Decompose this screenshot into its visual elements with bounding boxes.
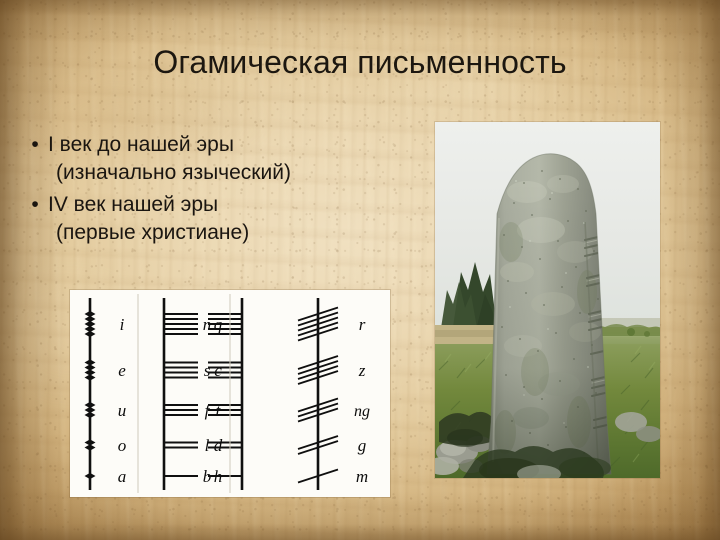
ogham-glyph-g: g [298,436,366,455]
ogham-notch [85,412,96,418]
ogham-letter-label: i [120,315,125,334]
ogham-notch [85,374,96,380]
list-item: • IV век нашей эры (первые христиане) [22,191,427,247]
bullet-list: • I век до нашей эры (изначально языческ… [22,131,427,251]
ogham-letter-label: a [118,467,127,486]
ogham-letter-label: z [358,361,366,380]
ogham-letter-label: q [214,315,223,334]
ogham-letter-label: h [214,467,223,486]
ogham-letter-label: d [214,436,223,455]
ogham-glyph-q: q [208,314,242,334]
list-item: • I век до нашей эры (изначально языческ… [22,131,427,187]
ogham-glyph-s: s [164,361,211,380]
ogham-stone-photo [435,122,660,478]
ogham-letter-label: o [118,436,127,455]
ogham-glyph-m: m [298,467,368,486]
ogham-stone-photo-svg [435,122,660,478]
ogham-column-aicme-huatha: qctdh [208,298,242,490]
slide-canvas: Огамическая письменность • I век до наше… [0,0,720,540]
slide-title: Огамическая письменность [0,44,720,81]
ogham-letter-label: m [356,467,368,486]
ogham-notch [85,444,96,450]
ogham-column-aicme-muine: rznggm [298,298,370,490]
ogham-notch [85,331,96,337]
bullet-text-primary: IV век нашей эры [48,191,427,219]
ogham-glyph-i: i [85,311,125,337]
ogham-glyph-z: z [298,356,366,384]
bullet-marker-icon: • [22,191,48,219]
ogham-glyph-ng: ng [298,399,370,422]
ogham-letter-label: ng [354,403,370,420]
ogham-glyph-d: d [208,436,242,455]
ogham-letter-label: r [359,315,366,334]
ogham-notch [85,473,96,479]
ogham-letter-label: g [358,436,367,455]
ogham-glyph-u: u [85,401,127,420]
ogham-letter-label: c [214,361,222,380]
ogham-glyph-c: c [208,361,242,380]
bullet-text-secondary: (изначально языческий) [22,159,427,187]
ogham-alphabet-chart: ieuoansflbqctdhrznggm [70,290,390,497]
bullet-text-primary: I век до нашей эры [48,131,427,159]
bullet-marker-icon: • [22,131,48,159]
ogham-glyph-e: e [85,359,127,380]
ogham-glyph-n: n [164,314,211,334]
ogham-glyph-r: r [298,308,366,341]
ogham-column-aicme-beithe: nsflb [164,298,212,490]
ogham-letter-label: u [118,401,127,420]
ogham-chart-svg: ieuoansflbqctdhrznggm [70,290,390,497]
ogham-glyph-h: h [208,467,242,486]
ogham-glyph-t: t [208,401,242,420]
ogham-glyph-f: f [164,401,212,420]
bullet-text-secondary: (первые христиане) [22,219,427,247]
ogham-column-aicme-ailme: ieuoa [85,298,127,490]
ogham-letter-label: l [205,436,210,455]
ogham-glyph-b: b [164,467,211,486]
ogham-glyph-l: l [164,436,210,455]
ogham-letter-label: e [118,361,126,380]
